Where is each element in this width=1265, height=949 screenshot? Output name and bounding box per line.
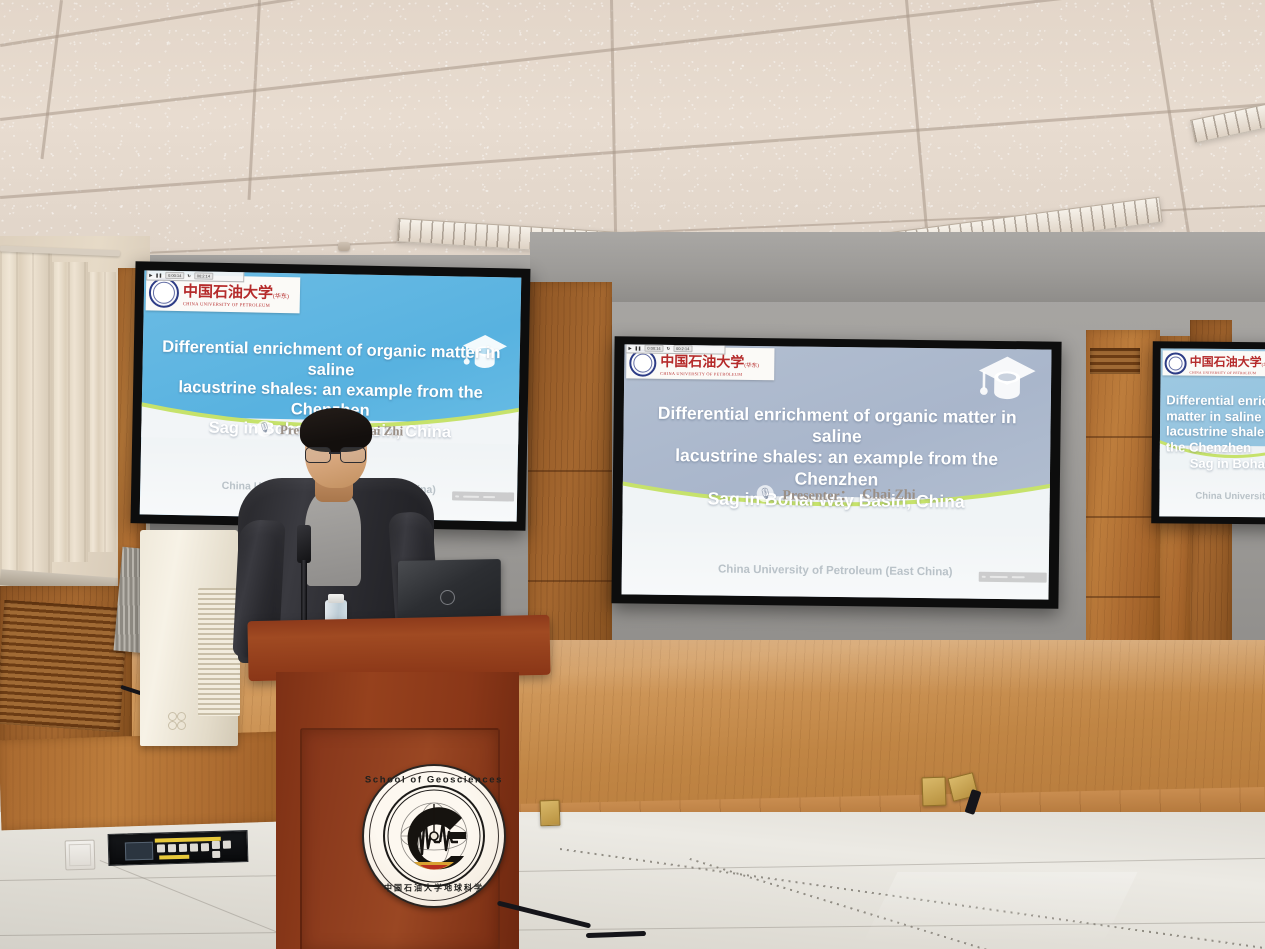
university-logo: 中国石油大学(华东) CHINA UNIVERSITY OF PETROLEUM [1163, 350, 1265, 376]
laptop-logo-icon [440, 590, 455, 605]
slide-title-line: Differential enrichment of organic matte… [1166, 392, 1265, 426]
radiator-louver [0, 600, 128, 732]
screen-share-toolbar[interactable] [979, 571, 1047, 582]
remaining-time: 00:2:14 [194, 272, 213, 279]
center-projection-screen[interactable]: 中国石油大学(华东) CHINA UNIVERSITY OF PETROLEUM… [611, 336, 1061, 608]
logo-english-text: CHINA UNIVERSITY OF PETROLEUM [1190, 370, 1265, 375]
floor-outlet[interactable] [540, 800, 561, 827]
replay-icon[interactable]: ↻ [667, 346, 670, 351]
logo-chinese-text: 中国石油大学 [183, 284, 273, 302]
smoke-detector [338, 242, 350, 251]
microphone-icon: 🎙 [757, 485, 774, 502]
presentation-room-photo: 中国石油大学(华东) CHINA UNIVERSITY OF PETROLEUM… [0, 0, 1265, 949]
graduation-cap-icon [976, 354, 1039, 409]
control-panel-button[interactable] [223, 841, 231, 849]
elapsed-time: 0:00:14 [165, 272, 184, 279]
glasses-bridge [329, 452, 340, 454]
control-panel-button[interactable] [168, 844, 176, 852]
presenter-glasses [304, 446, 370, 462]
school-emblem: School of Geosciences 中国石油大学地球科学 [362, 764, 506, 908]
play-icon[interactable]: ▶ [149, 272, 152, 277]
media-playback-bar[interactable]: ▶ ❚❚ 0:00:14 ↻ 00:2:14 [146, 270, 244, 282]
av-control-panel[interactable] [108, 830, 249, 866]
replay-icon[interactable]: ↻ [187, 273, 190, 278]
slide-title-line: Sag in Bohai Way Basin, China [1166, 456, 1265, 474]
control-panel-button[interactable] [190, 843, 198, 851]
presenter-name: Chai Zhi [862, 487, 916, 504]
window-curtain [52, 262, 88, 562]
floor-outlet[interactable] [922, 777, 947, 807]
wall-vent-louver [1090, 348, 1140, 374]
slide-title: Differential enrichment of organic matte… [1166, 392, 1265, 473]
slide-title-line: Differential enrichment of organic matte… [161, 337, 501, 384]
slide-title-line: lacustrine shales: an example from the C… [1166, 424, 1265, 458]
control-panel-button[interactable] [157, 844, 165, 852]
emblem-text-en: School of Geosciences [365, 775, 503, 786]
play-icon[interactable]: ▶ [628, 345, 631, 350]
wood-panel-seam [1086, 596, 1160, 598]
control-panel-button[interactable] [179, 844, 187, 852]
wood-panel-seam [528, 580, 612, 582]
control-panel-display [125, 842, 153, 861]
control-panel-button[interactable] [212, 851, 220, 858]
logo-chinese-suffix: (华东) [744, 362, 759, 368]
emblem-text-cn: 中国石油大学地球科学 [384, 883, 484, 894]
air-conditioner-control[interactable] [177, 712, 186, 721]
emblem-text-ring: School of Geosciences 中国石油大学地球科学 [364, 766, 504, 906]
right-display[interactable]: 中国石油大学(华东) CHINA UNIVERSITY OF PETROLEUM… [1151, 341, 1265, 524]
glasses-lens-right [340, 447, 366, 463]
remaining-time: 00:2:14 [673, 345, 692, 352]
wood-panel-seam [1086, 436, 1160, 438]
control-panel-button[interactable] [201, 843, 209, 851]
back-wall-upper [530, 232, 1265, 302]
wall-wood-panel [1086, 330, 1160, 675]
wood-panel-seam [1086, 516, 1160, 518]
logo-chinese-text: 中国石油大学 [660, 354, 744, 370]
window-curtain [88, 272, 116, 552]
control-panel-button[interactable] [212, 841, 220, 849]
control-panel-label [159, 855, 189, 860]
right-display-panel: 中国石油大学(华东) CHINA UNIVERSITY OF PETROLEUM… [1159, 348, 1265, 517]
glasses-lens-left [305, 447, 331, 463]
slide-title-line: Differential enrichment of organic matte… [636, 402, 1038, 450]
slide-right: 中国石油大学(华东) CHINA UNIVERSITY OF PETROLEUM… [1159, 348, 1265, 517]
university-seal-icon [1165, 352, 1187, 374]
slide-footer-text: China University of Petroleum (East Chin… [1159, 490, 1265, 503]
floor-light-reflection [862, 872, 1137, 944]
wood-panel-seam [528, 470, 612, 472]
center-screen-panel: 中国石油大学(华东) CHINA UNIVERSITY OF PETROLEUM… [621, 344, 1051, 599]
air-conditioner-control[interactable] [168, 721, 177, 730]
bottle-cap [328, 594, 344, 603]
screen-share-toolbar[interactable] [452, 492, 514, 502]
presenter-label: Presenter： [782, 484, 854, 505]
university-seal-icon [149, 277, 180, 308]
elapsed-time: 0:00:14 [644, 345, 663, 352]
window-curtain [0, 252, 52, 582]
logo-chinese-suffix: (华东) [1262, 362, 1265, 367]
pause-icon[interactable]: ❚❚ [155, 273, 162, 278]
air-conditioner-control[interactable] [168, 712, 177, 721]
media-playback-bar[interactable]: ▶ ❚❚ 0:00:14 ↻ 00:2:14 [625, 344, 725, 354]
logo-chinese-suffix: (华东) [273, 294, 289, 300]
air-conditioner-control[interactable] [177, 721, 186, 730]
pause-icon[interactable]: ❚❚ [635, 346, 642, 351]
microphone-head [297, 525, 311, 563]
presenter-shirt [305, 490, 361, 586]
wall-plate[interactable] [65, 840, 96, 871]
microphone-icon: 🎙 [256, 420, 272, 436]
slide-center: 中国石油大学(华东) CHINA UNIVERSITY OF PETROLEUM… [621, 344, 1051, 599]
logo-chinese-text: 中国石油大学 [1190, 354, 1262, 369]
